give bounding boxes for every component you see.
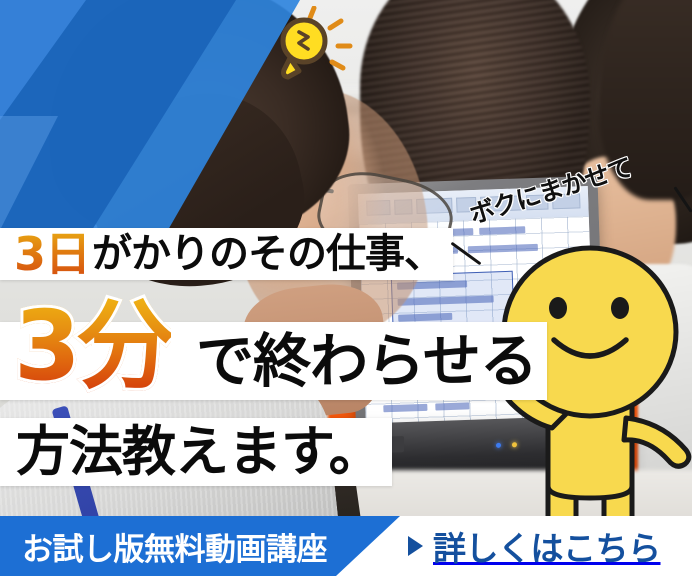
- headline-1-rest: がかりのその仕事、: [92, 234, 443, 274]
- ad-banner: ボクにまかせて 3日がかりのその仕事、 3分 3分 で終わらせる 方法教えます: [0, 0, 692, 576]
- headline-1-number: 3日: [14, 231, 90, 277]
- cta-bar: お試し版無料動画講座 詳しくはこちら: [0, 516, 692, 576]
- headline-band-3: 方法教えます。: [0, 418, 392, 486]
- mascot-left-eye: [549, 297, 567, 319]
- headline-3-text: 方法教えます。: [16, 425, 382, 479]
- headline-band-2: 3分 3分 で終わらせる: [0, 322, 547, 400]
- cta-link[interactable]: 詳しくはこちら: [408, 516, 661, 576]
- blue-corner-graphic: [0, 0, 300, 230]
- cta-label-panel[interactable]: お試し版無料動画講座: [0, 516, 400, 576]
- mascot-right-eye: [611, 297, 629, 319]
- headline-band-1: 3日がかりのその仕事、: [0, 228, 453, 280]
- headline-2-number-stroke: 3分: [14, 298, 171, 394]
- headline-2-rest: で終わらせる: [196, 332, 537, 390]
- play-triangle-icon: [408, 536, 423, 556]
- lightbulb-icon: [258, 6, 354, 84]
- cta-link-text: 詳しくはこちら: [433, 522, 661, 570]
- cta-label: お試し版無料動画講座: [0, 524, 327, 569]
